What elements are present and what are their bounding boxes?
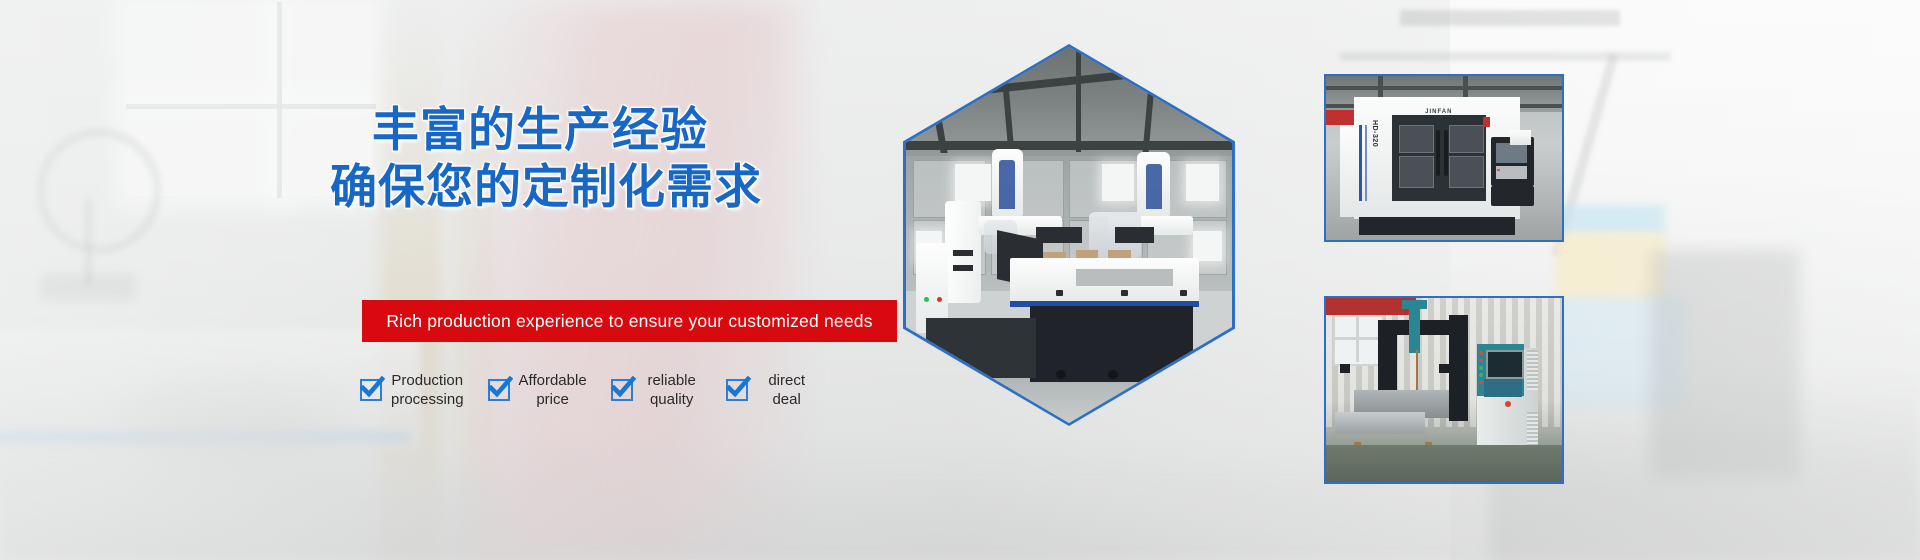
feature-label-line-2: quality xyxy=(650,391,693,408)
feature-label-line-2: deal xyxy=(772,391,800,408)
feature-label: reliablequality xyxy=(642,372,702,410)
feature-label-line-1: reliable xyxy=(647,372,695,389)
feature-list: Productionprocessing Affordableprice rel… xyxy=(360,372,841,410)
feature-item: Productionprocessing xyxy=(360,372,464,410)
subtitle-bar: Rich production experience to ensure you… xyxy=(362,300,897,342)
checkbox-checked-icon xyxy=(726,379,748,401)
hexagon-photo-image xyxy=(906,47,1232,423)
feature-label-line-1: Affordable xyxy=(519,372,587,389)
hexagon-photo xyxy=(903,44,1235,426)
promo-banner: 丰富的生产经验 确保您的定制化需求 Rich production experi… xyxy=(0,0,1920,560)
feature-label: directdeal xyxy=(757,372,817,410)
feature-item: Affordableprice xyxy=(488,372,587,410)
feature-item: directdeal xyxy=(726,372,817,410)
feature-label-line-1: direct xyxy=(768,372,805,389)
checkbox-checked-icon xyxy=(488,379,510,401)
feature-label: Affordableprice xyxy=(519,372,587,410)
feature-label: Productionprocessing xyxy=(391,372,464,410)
feature-item: reliablequality xyxy=(611,372,702,410)
feature-label-line-2: price xyxy=(536,391,569,408)
feature-label-line-1: Production xyxy=(391,372,463,389)
photo-machining-center: HD-320 JINFAN xyxy=(1324,74,1564,242)
headline: 丰富的生产经验 确保您的定制化需求 xyxy=(330,103,750,217)
subtitle-text: Rich production experience to ensure you… xyxy=(386,311,872,332)
photo-edm-machine xyxy=(1324,296,1564,484)
checkbox-checked-icon xyxy=(611,379,633,401)
headline-line-1: 丰富的生产经验 xyxy=(330,103,750,160)
feature-label-line-2: processing xyxy=(391,391,464,408)
checkbox-checked-icon xyxy=(360,379,382,401)
headline-line-2: 确保您的定制化需求 xyxy=(330,160,750,217)
